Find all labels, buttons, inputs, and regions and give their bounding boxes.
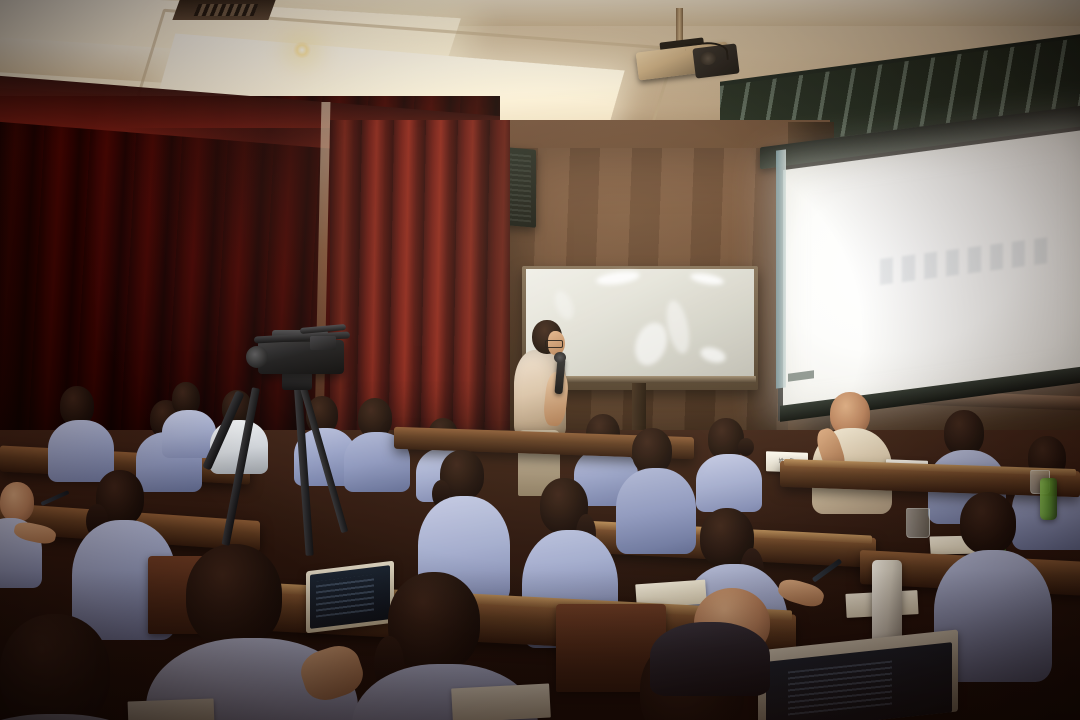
attendee-torso: [650, 622, 770, 696]
projection-screen-edge: [776, 149, 786, 388]
camera-lens-icon: [246, 346, 268, 368]
drinking-glass: [906, 508, 930, 538]
water-bottle: [1040, 478, 1057, 520]
ceiling-spotlight-1: [292, 42, 312, 58]
hair-bun: [738, 438, 754, 456]
attendee-torso: [48, 420, 114, 482]
attendee-head: [0, 614, 110, 720]
eyeglasses-icon: [545, 340, 563, 348]
notebook: [451, 683, 551, 720]
camera-viewfinder: [310, 336, 336, 350]
attendee-torso: [616, 468, 696, 554]
conference-room-photo: 姓 名 姓 名: [0, 0, 1080, 720]
tripod-head: [282, 372, 312, 390]
attendee-torso: [696, 454, 762, 512]
attendee-torso: [162, 410, 216, 458]
attendee-head: [0, 482, 34, 522]
notebook: [128, 699, 215, 720]
microphone-head-icon: [554, 352, 566, 363]
attendee-head: [960, 492, 1016, 554]
attendee-head: [186, 544, 282, 648]
laptop-screen-content: [316, 574, 374, 617]
air-vent-grille: [194, 4, 259, 16]
projector-pole: [676, 8, 683, 44]
